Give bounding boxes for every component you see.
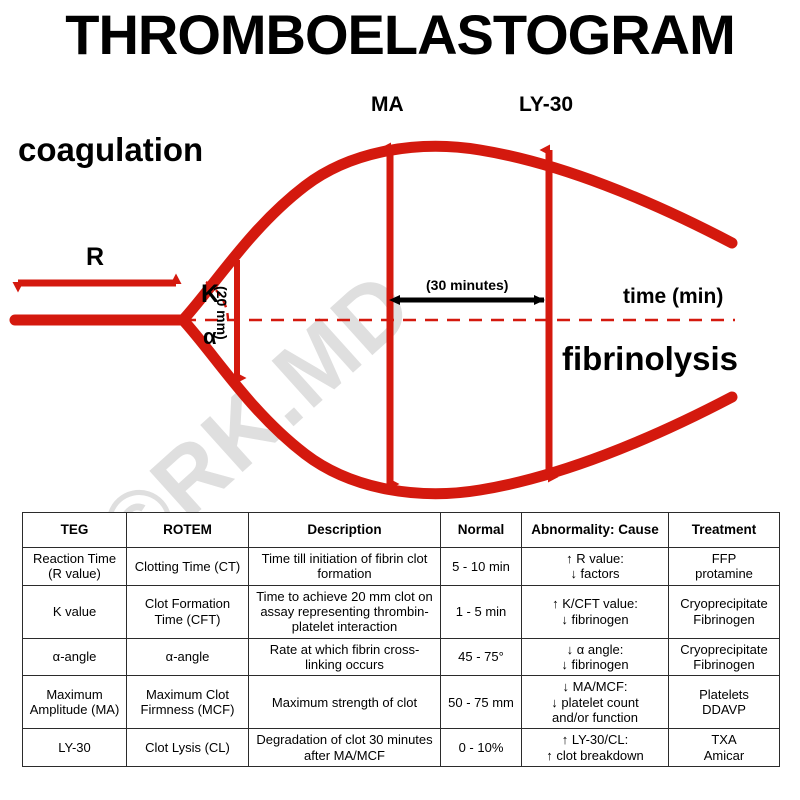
cell-teg: Reaction Time(R value) [23,548,127,586]
cell-teg: α-angle [23,638,127,676]
cell-description: Degradation of clot 30 minutes after MA/… [249,729,441,767]
cell-description: Time to achieve 20 mm clot on assay repr… [249,585,441,638]
teg-rotem-parameter-table: TEG ROTEM Description Normal Abnormality… [22,512,780,767]
cell-abnormality: ↑ K/CFT value:↓ fibrinogen [522,585,669,638]
cell-normal: 5 - 10 min [441,548,522,586]
label-ma: MA [371,93,404,117]
column-header-normal: Normal [441,513,522,548]
cell-teg: K value [23,585,127,638]
cell-treatment: CryoprecipitateFibrinogen [669,638,780,676]
cell-normal: 45 - 75° [441,638,522,676]
table-row: LY-30Clot Lysis (CL)Degradation of clot … [23,729,780,767]
label-r: R [86,243,104,272]
table-row: K valueClot FormationTime (CFT)Time to a… [23,585,780,638]
cell-rotem: Clotting Time (CT) [127,548,249,586]
cell-abnormality: ↓ MA/MCF:↓ platelet countand/or function [522,676,669,729]
table-row: MaximumAmplitude (MA)Maximum ClotFirmnes… [23,676,780,729]
cell-normal: 0 - 10% [441,729,522,767]
label-time-axis: time (min) [623,285,723,309]
column-header-abnormality: Abnormality: Cause [522,513,669,548]
cell-treatment: CryoprecipitateFibrinogen [669,585,780,638]
cell-rotem: α-angle [127,638,249,676]
column-header-description: Description [249,513,441,548]
cell-abnormality: ↑ LY-30/CL:↑ clot breakdown [522,729,669,767]
table-header-row: TEG ROTEM Description Normal Abnormality… [23,513,780,548]
cell-rotem: Clot Lysis (CL) [127,729,249,767]
table-row: Reaction Time(R value)Clotting Time (CT)… [23,548,780,586]
cell-abnormality: ↓ α angle:↓ fibrinogen [522,638,669,676]
cell-treatment: TXAAmicar [669,729,780,767]
label-fibrinolysis: fibrinolysis [562,340,738,378]
label-ly30: LY-30 [519,93,573,117]
table-row: α-angleα-angleRate at which fibrin cross… [23,638,780,676]
column-header-teg: TEG [23,513,127,548]
column-header-treatment: Treatment [669,513,780,548]
label-coagulation: coagulation [18,131,203,169]
cell-treatment: PlateletsDDAVP [669,676,780,729]
column-header-rotem: ROTEM [127,513,249,548]
cell-treatment: FFPprotamine [669,548,780,586]
label-thirty-minutes: (30 minutes) [426,277,508,293]
cell-normal: 50 - 75 mm [441,676,522,729]
thromboelastogram-infographic: ©RK.MD THROMBOELASTOGRAM [0,0,800,800]
cell-normal: 1 - 5 min [441,585,522,638]
cell-description: Time till initiation of fibrin clot form… [249,548,441,586]
cell-abnormality: ↑ R value:↓ factors [522,548,669,586]
cell-description: Maximum strength of clot [249,676,441,729]
cell-teg: LY-30 [23,729,127,767]
cell-description: Rate at which fibrin cross-linking occur… [249,638,441,676]
cell-rotem: Maximum ClotFirmness (MCF) [127,676,249,729]
label-twenty-mm: (20 mm) [214,286,230,340]
teg-tracing-diagram [0,0,800,512]
cell-rotem: Clot FormationTime (CFT) [127,585,249,638]
cell-teg: MaximumAmplitude (MA) [23,676,127,729]
